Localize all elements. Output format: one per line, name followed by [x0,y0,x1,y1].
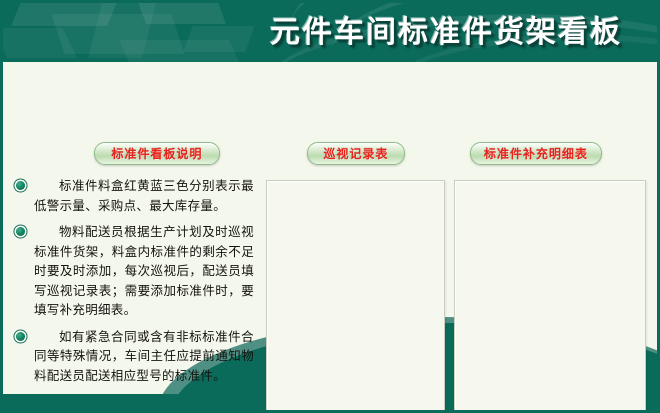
supply-detail-panel[interactable] [454,180,646,413]
list-item-text: 如有紧急合同或含有非标标准件合同等特殊情况，车间主任应提前通知物料配送员配送相应… [34,327,254,386]
description-text-panel: 标准件料盒红黄蓝三色分别表示最低警示量、采购点、最大库存量。 物料配送员根据生产… [16,176,254,413]
list-item: 标准件料盒红黄蓝三色分别表示最低警示量、采购点、最大库存量。 [16,176,254,215]
header-decoration-shape [119,40,239,62]
section-label-patrol-record-text: 巡视记录表 [323,145,388,162]
kanban-board: 元件车间标准件货架看板 标准件看板说明 巡视记录表 标准件补充明细表 标准件料盒… [0,0,660,413]
content-area: 标准件看板说明 巡视记录表 标准件补充明细表 标准件料盒红黄蓝三色分别表示最低警… [0,62,660,413]
supply-detail-panel-body [455,181,645,413]
board-title: 元件车间标准件货架看板 [270,7,622,51]
section-label-patrol-record: 巡视记录表 [307,142,405,165]
bullet-dot-icon [16,332,25,341]
list-item: 物料配送员根据生产计划及时巡视标准件货架，料盒内标准件的剩余不足时要及时添加，每… [16,222,254,320]
list-item-text: 标准件料盒红黄蓝三色分别表示最低警示量、采购点、最大库存量。 [34,176,254,215]
bullet-dot-icon [16,227,25,236]
section-label-description: 标准件看板说明 [94,142,220,165]
header-decoration-shape [138,2,226,24]
patrol-record-panel[interactable] [266,180,445,413]
bullet-dot-icon [16,181,25,190]
section-label-supply-detail: 标准件补充明细表 [470,142,602,165]
section-label-description-text: 标准件看板说明 [111,145,202,162]
patrol-record-panel-body [267,181,444,413]
list-item-text: 物料配送员根据生产计划及时巡视标准件货架，料盒内标准件的剩余不足时要及时添加，每… [34,222,254,320]
list-item: 如有紧急合同或含有非标标准件合同等特殊情况，车间主任应提前通知物料配送员配送相应… [16,327,254,386]
header-banner: 元件车间标准件货架看板 [0,0,660,62]
section-label-supply-detail-text: 标准件补充明细表 [484,145,588,162]
